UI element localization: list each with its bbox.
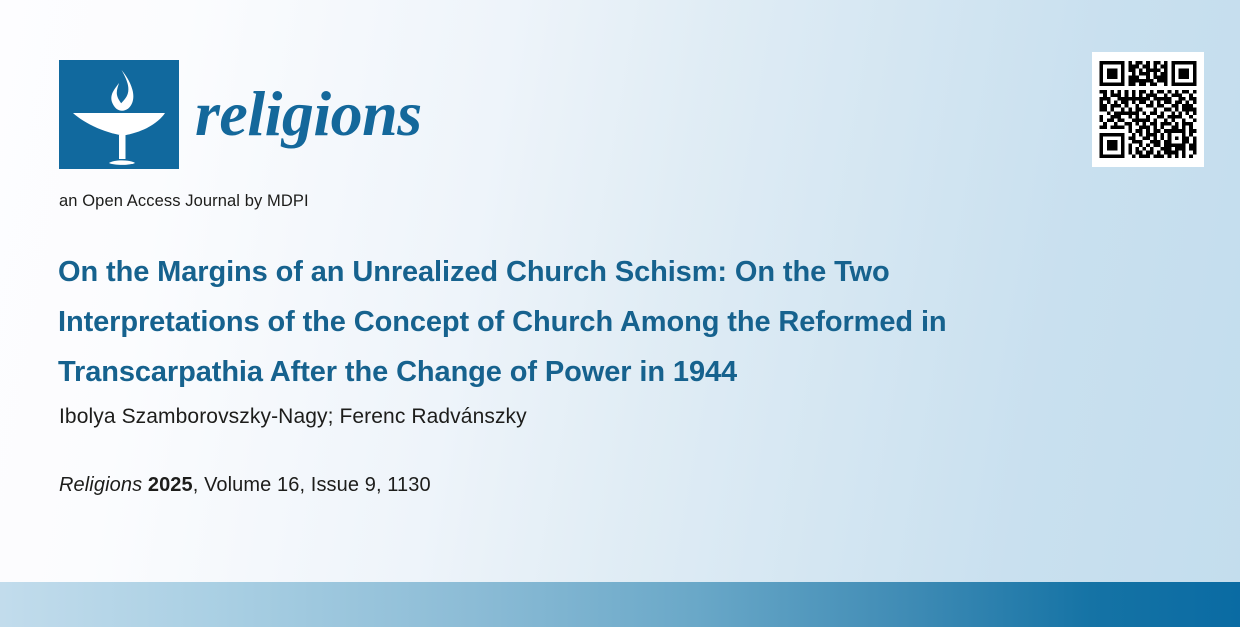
qr-code-icon: [1096, 56, 1200, 163]
article-announcement-card: religions: [0, 0, 1240, 627]
journal-masthead: religions: [59, 60, 422, 169]
journal-logo: [59, 60, 179, 169]
article-authors: Ibolya Szamborovszky-Nagy; Ferenc Radván…: [59, 405, 527, 429]
citation-journal-name: Religions: [59, 474, 142, 496]
citation-details: , Volume 16, Issue 9, 1130: [193, 474, 431, 496]
chalice-flame-icon: [59, 60, 179, 169]
journal-tagline: an Open Access Journal by MDPI: [59, 192, 309, 211]
article-title: On the Margins of an Unrealized Church S…: [58, 247, 1088, 397]
qr-code[interactable]: [1092, 52, 1204, 167]
citation-year: 2025: [148, 474, 193, 496]
article-citation: Religions 2025, Volume 16, Issue 9, 1130: [59, 474, 431, 497]
footer-gradient-bar: [0, 582, 1240, 627]
journal-wordmark: religions: [195, 82, 422, 146]
